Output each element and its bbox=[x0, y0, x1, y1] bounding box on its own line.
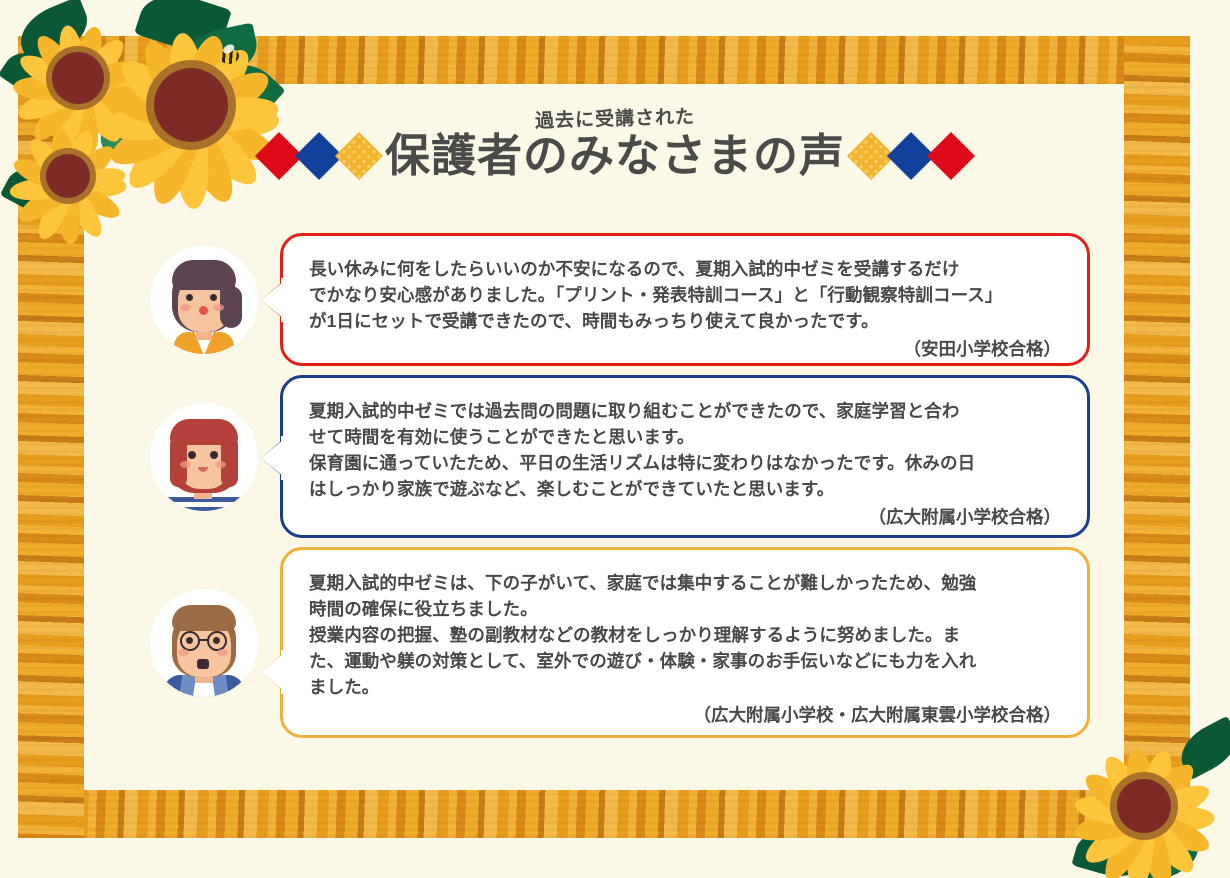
testimonial-line: た、運動や躾の対策として、室外での遊び・体験・家事のお手伝いなどにも力を入れ bbox=[309, 648, 1061, 674]
bubble-tail bbox=[261, 278, 287, 322]
testimonial-line: 夏期入試的中ゼミは、下の子がいて、家庭では集中することが難しかったため、勉強 bbox=[309, 570, 1061, 596]
testimonial-line: 授業内容の把握、塾の副教材などの教材をしっかり理解するように努めました。ま bbox=[309, 622, 1061, 648]
page-title: 保護者のみなさまの声 bbox=[379, 133, 851, 178]
testimonial-line: ました。 bbox=[309, 674, 1061, 700]
bubble-tail bbox=[261, 436, 287, 480]
testimonial-text: 夏期入試的中ゼミは、下の子がいて、家庭では集中することが難しかったため、勉強 時… bbox=[309, 570, 1061, 700]
testimonial-line: 長い休みに何をしたらいいのか不安になるので、夏期入試的中ゼミを受講するだけ bbox=[309, 256, 1061, 282]
testimonial-bubble: 夏期入試的中ゼミでは過去問の問題に取り組むことができたので、家庭学習と合わ せて… bbox=[280, 375, 1090, 538]
testimonial-bubble: 夏期入試的中ゼミは、下の子がいて、家庭では集中することが難しかったため、勉強 時… bbox=[280, 547, 1090, 738]
testimonial-row: 夏期入試的中ゼミでは過去問の問題に取り組むことができたので、家庭学習と合わ せて… bbox=[150, 375, 1090, 538]
bubble-tail bbox=[261, 650, 287, 694]
testimonial-row: 長い休みに何をしたらいいのか不安になるので、夏期入試的中ゼミを受講するだけ でか… bbox=[150, 233, 1090, 366]
header-kicker: 過去に受講された bbox=[535, 102, 696, 133]
page-header: 過去に受講された 保護者のみなさまの声 bbox=[0, 104, 1230, 178]
testimonial-line: 時間の確保に役立ちました。 bbox=[309, 596, 1061, 622]
mother-bob-striped-avatar bbox=[150, 403, 258, 511]
testimonial-credit: （広大附属小学校・広大附属東雲小学校合格） bbox=[309, 702, 1061, 728]
testimonials-page: 過去に受講された 保護者のみなさまの声 bbox=[0, 0, 1230, 878]
testimonial-line: せて時間を有効に使うことができたと思います。 bbox=[309, 424, 1061, 450]
mother-ponytail-orange-avatar bbox=[150, 246, 258, 354]
testimonial-text: 長い休みに何をしたらいいのか不安になるので、夏期入試的中ゼミを受講するだけ でか… bbox=[309, 256, 1061, 334]
testimonial-row: 夏期入試的中ゼミは、下の子がいて、家庭では集中することが難しかったため、勉強 時… bbox=[150, 547, 1090, 738]
diamond-yellow-icon bbox=[335, 131, 383, 179]
sunflower-icon bbox=[1078, 740, 1210, 872]
testimonial-line: 夏期入試的中ゼミでは過去問の問題に取り組むことができたので、家庭学習と合わ bbox=[309, 398, 1061, 424]
testimonial-line: が1日にセットで受講できたので、時間もみっちり使えて良かったです。 bbox=[309, 308, 1061, 334]
testimonial-text: 夏期入試的中ゼミでは過去問の問題に取り組むことができたので、家庭学習と合わ せて… bbox=[309, 398, 1061, 502]
testimonial-credit: （広大附属小学校合格） bbox=[309, 504, 1061, 530]
father-glasses-blue-avatar bbox=[150, 589, 258, 697]
header-title-row: 保護者のみなさまの声 bbox=[0, 133, 1230, 178]
testimonial-line: 保育園に通っていたため、平日の生活リズムは特に変わりはなかったです。休みの日 bbox=[309, 450, 1061, 476]
sunflower-bottom-right bbox=[1060, 726, 1230, 878]
diamond-red-icon bbox=[927, 131, 975, 179]
testimonial-line: はしっかり家族で遊ぶなど、楽しむことができていたと思います。 bbox=[309, 476, 1061, 502]
frame-border-bottom bbox=[18, 790, 1190, 838]
testimonial-line: でかなり安心感がありました。「プリント・発表特訓コース」と「行動観察特訓コース」 bbox=[309, 282, 1061, 308]
testimonial-bubble: 長い休みに何をしたらいいのか不安になるので、夏期入試的中ゼミを受講するだけ でか… bbox=[280, 233, 1090, 366]
testimonial-credit: （安田小学校合格） bbox=[309, 336, 1061, 362]
